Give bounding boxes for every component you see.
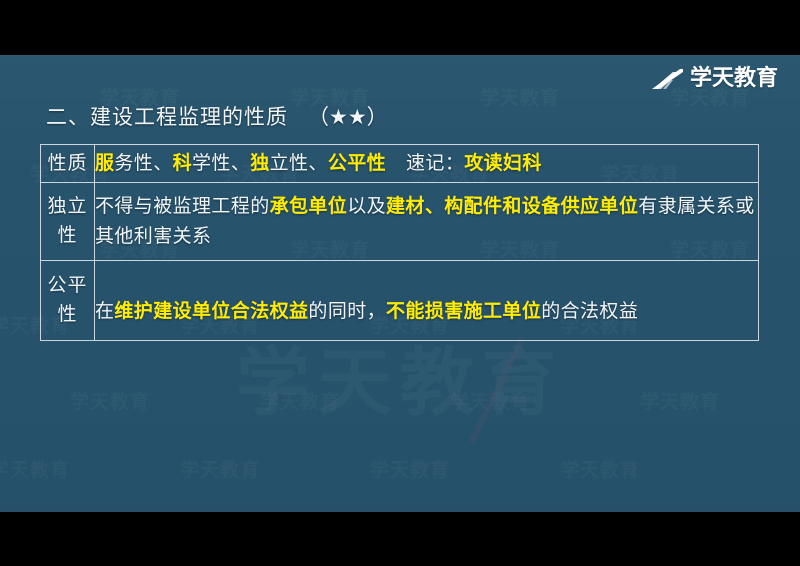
row-label-line: 独立: [41, 192, 94, 221]
brand-logo-text: 学天教育: [690, 68, 778, 90]
watermark-tile: 学天教育: [450, 387, 530, 414]
text-segment-highlight: 科: [173, 152, 192, 174]
text-segment-plain: 的同时，: [308, 300, 386, 322]
row-label-line: 性质: [41, 149, 94, 178]
table-row: 独立 性 不得与被监理工程的承包单位以及建材、构配件和设备供应单位有隶属关系或其…: [41, 182, 759, 260]
row-label-line: 性: [41, 300, 94, 329]
brand-logo: 学天教育: [650, 68, 778, 90]
text-segment-plain: 的合法权益: [541, 300, 638, 322]
text-segment-plain: 务性、: [114, 152, 172, 174]
row-label-line: 性: [41, 221, 94, 250]
video-player-screen: 学天教育 学天教育 学天教育 学天教育 学天教育 学天教育 学天教育 学天教育 …: [0, 0, 800, 566]
text-segment-highlight: 攻读妇科: [464, 152, 542, 174]
text-segment-highlight: 服: [95, 152, 114, 174]
row-content-fairness: 在维护建设单位合法权益的同时，不能损害施工单位的合法权益: [95, 260, 759, 340]
text-segment-plain: 速记：: [406, 152, 464, 174]
road-swoosh-icon: [650, 68, 684, 90]
watermark-tile: 学天教育: [0, 455, 70, 482]
watermark-tile: 学天教育: [480, 83, 560, 110]
table-row: 性质 服务性、科学性、独立性、公平性速记：攻读妇科: [41, 145, 759, 183]
page-title-number: 二、: [46, 105, 90, 129]
text-segment-plain: 以及: [347, 195, 386, 217]
page-title: 二、建设工程监理的性质（★★）: [46, 101, 388, 131]
properties-table: 性质 服务性、科学性、独立性、公平性速记：攻读妇科 独立 性 不得与被监理工程的…: [40, 144, 759, 341]
watermark-tile: 学天教育: [560, 455, 640, 482]
slide-canvas: 学天教育 学天教育 学天教育 学天教育 学天教育 学天教育 学天教育 学天教育 …: [0, 55, 800, 512]
text-segment-plain: 不得与被监理工程的: [95, 195, 270, 217]
watermark-tile: 学天教育: [260, 387, 340, 414]
row-label-independence: 独立 性: [41, 182, 95, 260]
text-segment-highlight: 公平性: [328, 152, 386, 174]
text-segment-highlight: 建材、构配件和设备供应单位: [386, 195, 638, 217]
text-segment-plain: 在: [95, 300, 114, 322]
watermark-slash-mark: [468, 336, 525, 445]
table-row: 公平 性 在维护建设单位合法权益的同时，不能损害施工单位的合法权益: [41, 260, 759, 340]
watermark-tile: 学天教育: [70, 387, 150, 414]
page-title-stars: （★★）: [308, 105, 388, 129]
page-title-text: 建设工程监理的性质: [90, 105, 288, 129]
letterbox-top: [0, 0, 800, 55]
watermark-tile: 学天教育: [370, 455, 450, 482]
text-segment-highlight: 维护建设单位合法权益: [114, 300, 308, 322]
watermark-tile: 学天教育: [180, 455, 260, 482]
row-content-nature: 服务性、科学性、独立性、公平性速记：攻读妇科: [95, 145, 759, 183]
text-segment-highlight: 独: [250, 152, 269, 174]
text-segment-plain: 学性、: [192, 152, 250, 174]
row-label-line: 公平: [41, 271, 94, 300]
row-content-independence: 不得与被监理工程的承包单位以及建材、构配件和设备供应单位有隶属关系或其他利害关系: [95, 182, 759, 260]
row-label-fairness: 公平 性: [41, 260, 95, 340]
row-label-nature: 性质: [41, 145, 95, 183]
watermark-tile: 学天教育: [640, 387, 720, 414]
text-segment-highlight: 不能损害施工单位: [386, 300, 541, 322]
letterbox-bottom: [0, 512, 800, 566]
text-segment-plain: 立性、: [270, 152, 328, 174]
text-segment-highlight: 承包单位: [270, 195, 348, 217]
